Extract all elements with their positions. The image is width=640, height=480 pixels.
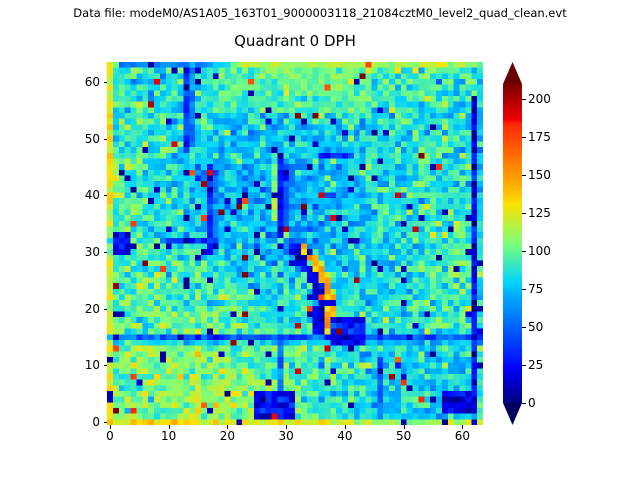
y-tick-label: 60 xyxy=(85,75,100,89)
colorbar-tick-mark xyxy=(522,213,526,214)
colorbar-tick-label: 200 xyxy=(528,92,551,106)
colorbar-tick-label: 175 xyxy=(528,130,551,144)
colorbar-tick-mark xyxy=(522,327,526,328)
colorbar-tick-mark xyxy=(522,251,526,252)
colorbar-tick-label: 75 xyxy=(528,282,543,296)
colorbar-tick-mark xyxy=(522,403,526,404)
x-tick-label: 50 xyxy=(396,429,411,443)
y-tick-label: 0 xyxy=(92,415,100,429)
y-tick-mark xyxy=(104,422,108,423)
x-tick-mark xyxy=(227,425,228,429)
heatmap-axes[interactable] xyxy=(107,62,483,425)
y-tick-mark xyxy=(104,309,108,310)
x-tick-mark xyxy=(462,425,463,429)
y-tick-mark xyxy=(104,195,108,196)
colorbar-extend-top-arrow xyxy=(503,62,522,84)
x-tick-label: 10 xyxy=(161,429,176,443)
x-tick-mark xyxy=(169,425,170,429)
colorbar-tick-label: 0 xyxy=(528,396,536,410)
x-tick-mark xyxy=(286,425,287,429)
x-tick-mark xyxy=(110,425,111,429)
x-tick-label: 40 xyxy=(337,429,352,443)
colorbar-gradient xyxy=(503,84,522,403)
y-tick-label: 40 xyxy=(85,188,100,202)
x-tick-label: 0 xyxy=(106,429,114,443)
colorbar-tick-label: 50 xyxy=(528,320,543,334)
detector-heatmap-image[interactable] xyxy=(107,62,483,425)
y-tick-label: 10 xyxy=(85,358,100,372)
colorbar-tick-mark xyxy=(522,99,526,100)
colorbar-tick-label: 100 xyxy=(528,244,551,258)
colorbar-tick-mark xyxy=(522,175,526,176)
y-tick-mark xyxy=(104,139,108,140)
x-tick-mark xyxy=(345,425,346,429)
x-tick-label: 30 xyxy=(279,429,294,443)
figure-canvas: Data file: modeM0/AS1A05_163T01_90000031… xyxy=(0,0,640,480)
colorbar-tick-label: 150 xyxy=(528,168,551,182)
axes-title: Quadrant 0 DPH xyxy=(107,32,483,50)
colorbar-tick-mark xyxy=(522,137,526,138)
colorbar-tick-mark xyxy=(522,365,526,366)
colorbar[interactable] xyxy=(503,62,522,425)
colorbar-tick-label: 125 xyxy=(528,206,551,220)
x-tick-mark xyxy=(404,425,405,429)
colorbar-gradient-body xyxy=(503,84,522,403)
y-tick-label: 20 xyxy=(85,302,100,316)
y-tick-mark xyxy=(104,365,108,366)
figure-suptitle: Data file: modeM0/AS1A05_163T01_90000031… xyxy=(0,6,640,20)
y-tick-mark xyxy=(104,252,108,253)
x-tick-label: 60 xyxy=(455,429,470,443)
y-tick-label: 30 xyxy=(85,245,100,259)
y-tick-label: 50 xyxy=(85,132,100,146)
x-tick-label: 20 xyxy=(220,429,235,443)
colorbar-tick-mark xyxy=(522,289,526,290)
y-tick-mark xyxy=(104,82,108,83)
colorbar-tick-label: 25 xyxy=(528,358,543,372)
colorbar-extend-bottom-arrow xyxy=(503,403,522,425)
